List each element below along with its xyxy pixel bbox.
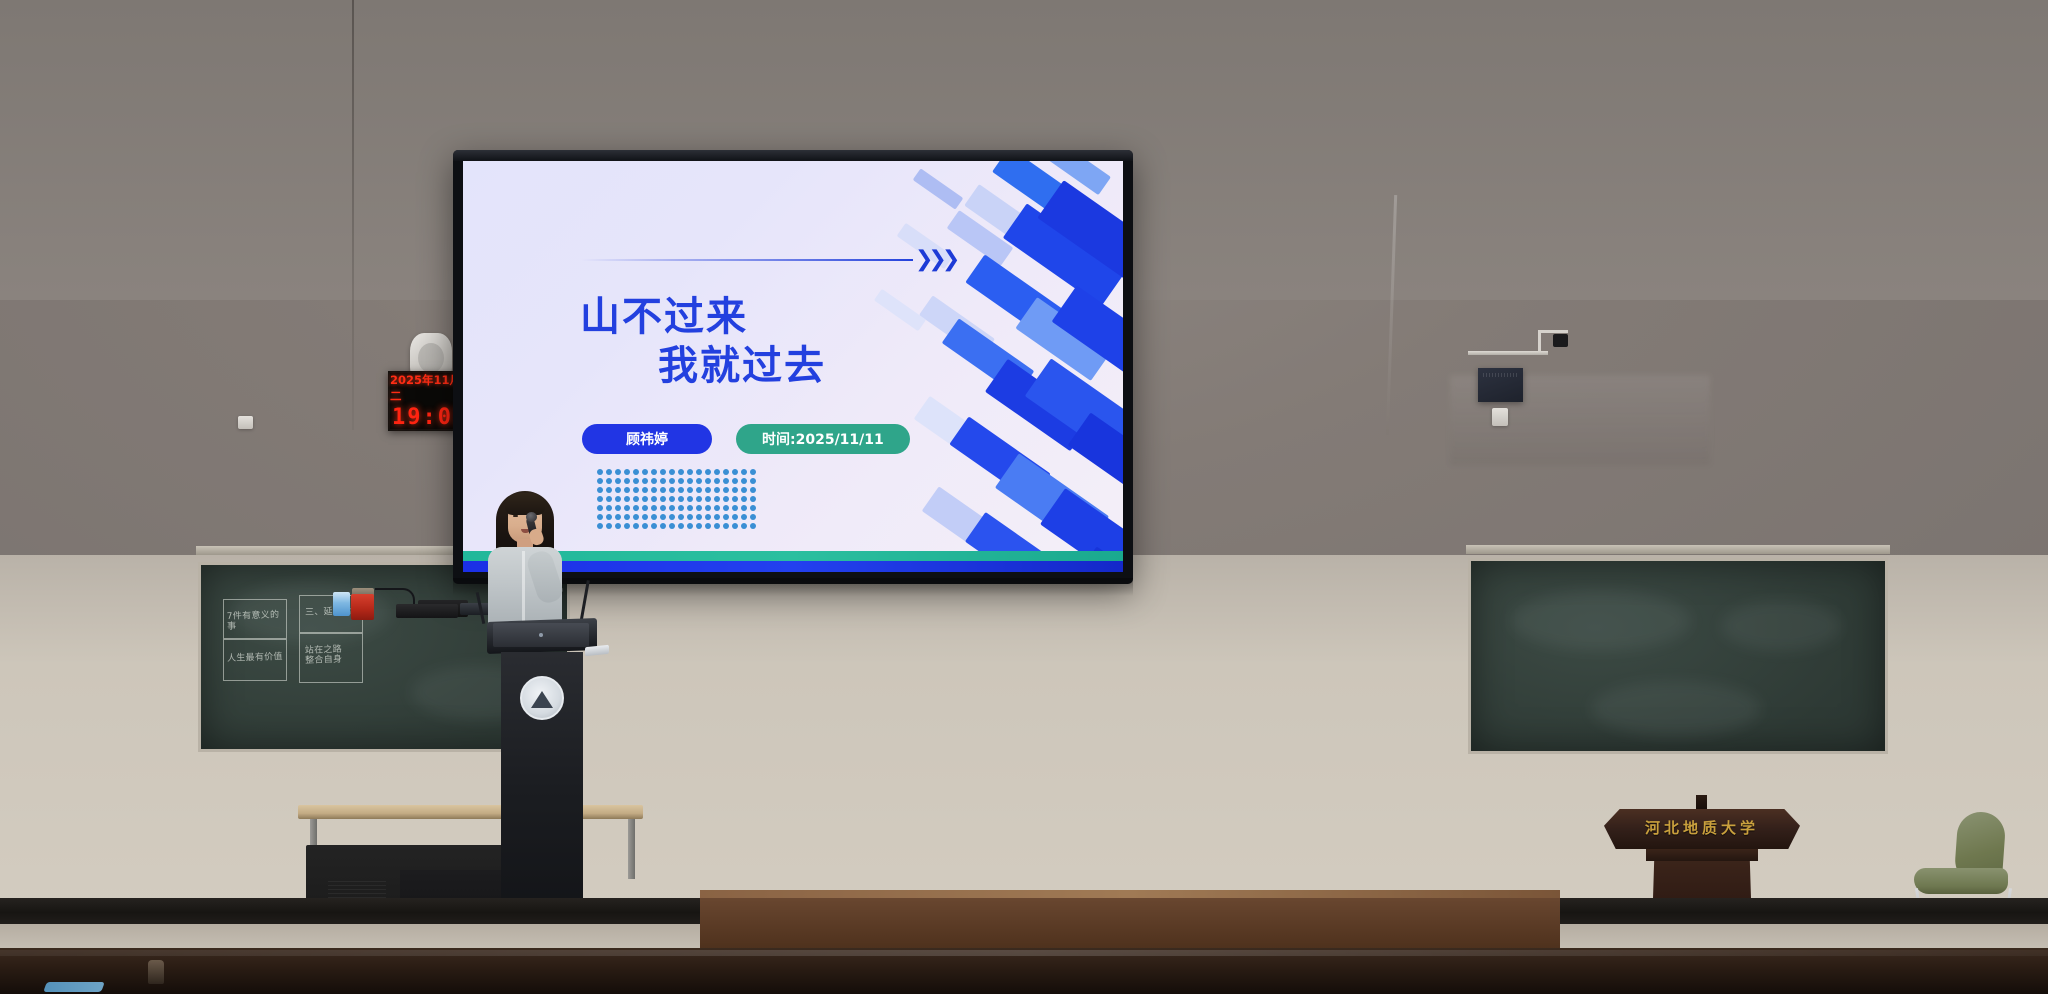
slide-dot bbox=[750, 478, 756, 484]
slide-dot bbox=[597, 469, 603, 475]
slide-dot bbox=[606, 505, 612, 511]
slide-dot bbox=[633, 505, 639, 511]
slide-dot bbox=[741, 469, 747, 475]
slide-dot bbox=[678, 478, 684, 484]
slide-dot bbox=[687, 496, 693, 502]
slide-dot bbox=[723, 514, 729, 520]
slide-dot bbox=[732, 496, 738, 502]
slide-dot bbox=[597, 505, 603, 511]
slide-dot bbox=[714, 478, 720, 484]
slide-dot bbox=[723, 478, 729, 484]
slide-dot bbox=[624, 496, 630, 502]
slide-dot bbox=[651, 496, 657, 502]
lecture-hall-scene: 7件有意义的事 人生最有价值 三、延展活动 站在之路 整合自身 2025年11月… bbox=[0, 0, 2048, 994]
slide-dot bbox=[696, 478, 702, 484]
wall-speaker-right bbox=[1478, 368, 1523, 402]
slide-dot bbox=[597, 523, 603, 529]
slide-dot bbox=[678, 496, 684, 502]
slide-dot bbox=[741, 496, 747, 502]
slide-dot bbox=[714, 523, 720, 529]
slide-dot bbox=[741, 478, 747, 484]
slide-date-badge: 时间:2025/11/11 bbox=[736, 424, 910, 454]
slide-dot bbox=[750, 469, 756, 475]
slide-title-line-2: 我就过去 bbox=[658, 345, 826, 388]
slide-dot bbox=[606, 496, 612, 502]
slide-dot bbox=[642, 469, 648, 475]
slide-dot bbox=[597, 514, 603, 520]
slide-dot bbox=[615, 514, 621, 520]
slide-dot bbox=[615, 505, 621, 511]
slide-dot bbox=[705, 478, 711, 484]
slide-dot bbox=[732, 487, 738, 493]
slide-dot bbox=[642, 487, 648, 493]
slide-dot bbox=[741, 505, 747, 511]
slide-dot bbox=[669, 523, 675, 529]
slide-dot bbox=[705, 514, 711, 520]
slide-dot bbox=[624, 478, 630, 484]
lectern-indicator-light bbox=[539, 633, 543, 637]
slide-dot bbox=[714, 496, 720, 502]
blue-tissue-box bbox=[333, 592, 350, 616]
slide-dot bbox=[651, 514, 657, 520]
podium-neck bbox=[1646, 849, 1758, 861]
slide-dot bbox=[606, 514, 612, 520]
wall-outlet-plate-right[interactable] bbox=[1492, 408, 1508, 426]
slide-dot bbox=[696, 505, 702, 511]
slide-dot bbox=[651, 469, 657, 475]
floor-object-bottle bbox=[148, 960, 164, 984]
speaker-grille bbox=[1483, 373, 1518, 377]
chalk-rail-right bbox=[1466, 545, 1890, 554]
slide-dot bbox=[624, 514, 630, 520]
slide-dot bbox=[714, 514, 720, 520]
slide-dot bbox=[615, 496, 621, 502]
slide-dot bbox=[687, 487, 693, 493]
slide-dot bbox=[624, 487, 630, 493]
slide-dot bbox=[687, 514, 693, 520]
chevron-right-icon: ❯❯❯ bbox=[915, 249, 955, 271]
slide-dot bbox=[705, 505, 711, 511]
slide-dot bbox=[615, 487, 621, 493]
slide-dot bbox=[687, 523, 693, 529]
slide-dot bbox=[750, 496, 756, 502]
slide-dot bbox=[732, 514, 738, 520]
blackboard-right bbox=[1468, 558, 1888, 754]
slide-dot bbox=[633, 496, 639, 502]
floor-reflection bbox=[0, 950, 2048, 956]
slide-dot bbox=[624, 469, 630, 475]
slide-dot bbox=[714, 505, 720, 511]
slide-dot bbox=[741, 487, 747, 493]
slide-dot bbox=[696, 523, 702, 529]
slide-dot bbox=[615, 469, 621, 475]
slide-dot bbox=[714, 469, 720, 475]
slide-dot bbox=[660, 505, 666, 511]
podium-engraved-name: 河北地质大学 bbox=[1604, 817, 1800, 838]
slide-dot bbox=[696, 514, 702, 520]
chalk-note-4: 站在之路 整合自身 bbox=[305, 644, 364, 667]
slide-dot bbox=[669, 496, 675, 502]
slide-dot bbox=[642, 523, 648, 529]
slide-dot bbox=[741, 514, 747, 520]
slide-dot bbox=[606, 487, 612, 493]
slide-dot bbox=[660, 496, 666, 502]
presenter-shirt-placket bbox=[522, 551, 525, 623]
slide-dot-grid bbox=[597, 469, 756, 529]
slide-dot bbox=[597, 496, 603, 502]
presenter-name-badge: 顾祎婷 bbox=[582, 424, 712, 454]
slide-dot bbox=[723, 487, 729, 493]
slide-dot bbox=[678, 514, 684, 520]
slide-dot bbox=[660, 487, 666, 493]
slide-dot bbox=[678, 487, 684, 493]
slide-dot bbox=[669, 514, 675, 520]
slide-divider-line bbox=[581, 259, 913, 261]
desk-leg-right bbox=[628, 819, 635, 879]
slide-dot bbox=[750, 505, 756, 511]
slide-dot bbox=[687, 469, 693, 475]
geometric-block bbox=[913, 168, 964, 209]
slide-dot bbox=[660, 523, 666, 529]
slide-dot bbox=[696, 469, 702, 475]
slide-dot bbox=[750, 514, 756, 520]
slide-dot bbox=[642, 496, 648, 502]
slide-dot bbox=[624, 505, 630, 511]
slide-dot bbox=[732, 505, 738, 511]
chair-seat bbox=[1914, 868, 2008, 894]
slide-dot bbox=[642, 514, 648, 520]
slide-dot bbox=[750, 523, 756, 529]
stage-edge bbox=[700, 890, 1560, 898]
slide-dot bbox=[651, 523, 657, 529]
slide-dot bbox=[723, 505, 729, 511]
slide-dot bbox=[651, 505, 657, 511]
slide-dot bbox=[732, 523, 738, 529]
slide-dot bbox=[633, 478, 639, 484]
slide-dot bbox=[750, 487, 756, 493]
slide-dot bbox=[687, 505, 693, 511]
slide-dot bbox=[597, 487, 603, 493]
chalk-note-2: 人生最有价值 bbox=[227, 652, 285, 664]
black-equipment-case-2 bbox=[396, 604, 458, 618]
slide-dot bbox=[651, 487, 657, 493]
wall-outlet-plate-left[interactable] bbox=[238, 416, 253, 429]
slide-dot bbox=[642, 505, 648, 511]
mountain-crest-shape bbox=[531, 691, 553, 708]
slide-dot bbox=[669, 478, 675, 484]
slide-dot bbox=[669, 469, 675, 475]
floor-object-blue bbox=[43, 982, 105, 992]
slide-dot bbox=[660, 514, 666, 520]
slide-dot bbox=[696, 496, 702, 502]
slide-dot bbox=[606, 523, 612, 529]
presenter-figure bbox=[480, 487, 570, 627]
slide-dot bbox=[741, 523, 747, 529]
camera-icon bbox=[1553, 334, 1568, 347]
podium-knob bbox=[1696, 795, 1707, 811]
slide-dot bbox=[669, 487, 675, 493]
slide-dot bbox=[633, 487, 639, 493]
slide-dot bbox=[651, 478, 657, 484]
slide-dot bbox=[705, 487, 711, 493]
slide-dot bbox=[705, 523, 711, 529]
slide-dot bbox=[606, 469, 612, 475]
slide-dot bbox=[678, 523, 684, 529]
slide-dot bbox=[696, 487, 702, 493]
slide-dot bbox=[723, 469, 729, 475]
slide-dot bbox=[660, 469, 666, 475]
university-seal-icon bbox=[520, 676, 564, 720]
slide-dot bbox=[624, 523, 630, 529]
slide-dot bbox=[660, 478, 666, 484]
slide-dot bbox=[642, 478, 648, 484]
wall-seam bbox=[352, 0, 354, 430]
slide-dot bbox=[633, 514, 639, 520]
microphone-head bbox=[526, 512, 537, 522]
red-tissue-box bbox=[351, 594, 374, 620]
slide-dot bbox=[633, 469, 639, 475]
slide-dot bbox=[678, 469, 684, 475]
slide-dot bbox=[714, 487, 720, 493]
display-bezel bbox=[453, 150, 1133, 161]
slide-title-line-1: 山不过来 bbox=[580, 296, 826, 339]
presenter-fringe bbox=[505, 493, 545, 515]
slide-dot bbox=[732, 469, 738, 475]
slide-dot bbox=[705, 469, 711, 475]
slide-dot bbox=[678, 505, 684, 511]
slide-dot bbox=[732, 478, 738, 484]
geometric-block bbox=[874, 289, 926, 331]
slide-dot bbox=[597, 478, 603, 484]
camera-mount-rail bbox=[1468, 351, 1548, 355]
slide-title-block: 山不过来 我就过去 bbox=[580, 296, 826, 388]
slide-dot bbox=[705, 496, 711, 502]
slide-dot bbox=[615, 478, 621, 484]
slide-dot bbox=[615, 523, 621, 529]
slide-dot bbox=[687, 478, 693, 484]
slide-dot bbox=[723, 523, 729, 529]
chalk-note-1: 7件有意义的事 bbox=[227, 610, 286, 633]
slide-geometric-art bbox=[793, 161, 1123, 572]
slide-dot bbox=[606, 478, 612, 484]
slide-dot bbox=[723, 496, 729, 502]
slide-dot bbox=[669, 505, 675, 511]
presenter-eye-left bbox=[513, 515, 518, 517]
slide-badges: 顾祎婷 时间:2025/11/11 bbox=[582, 424, 910, 454]
slide-dot bbox=[633, 523, 639, 529]
